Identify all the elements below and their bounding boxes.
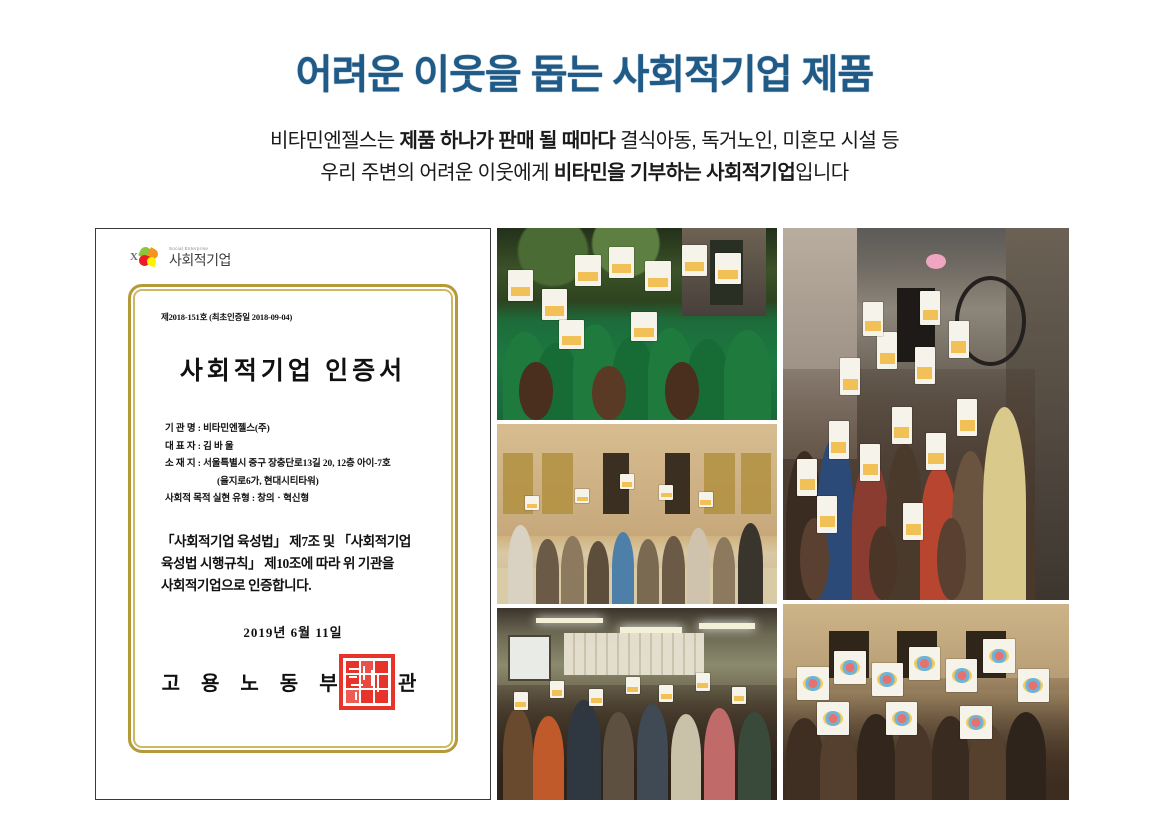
header: 어려운 이웃을 돕는 사회적기업 제품 비타민엔젤스는 제품 하나가 판매 될 …	[0, 0, 1169, 189]
photo-children-holding-heart-design-boxes	[783, 604, 1069, 800]
page-title: 어려운 이웃을 돕는 사회적기업 제품	[0, 52, 1169, 98]
subtitle: 비타민엔젤스는 제품 하나가 판매 될 때마다 결식아동, 독거노인, 미혼모 …	[0, 126, 1169, 189]
field-social-purpose-type: 사회적 목적 실현 유형 : 창의ㆍ혁신형	[165, 491, 433, 509]
logo-prefix: X	[130, 251, 138, 263]
official-seal-icon	[339, 654, 395, 710]
certificate-body-line3: 사회적기업으로 인증합니다.	[161, 575, 425, 597]
butterfly-logo-icon: X	[130, 246, 164, 268]
photo-gallery	[497, 228, 1069, 800]
logo-korean-label: 사회적기업	[169, 253, 231, 267]
photo-column-left	[497, 228, 777, 800]
poster-page: 어려운 이웃을 돕는 사회적기업 제품 비타민엔젤스는 제품 하나가 판매 될 …	[0, 0, 1169, 827]
field-organization-name: 기 관 명 : 비타민엔젤스(주)	[165, 421, 433, 439]
certificate-body-line1: 「사회적기업 육성법」 제7조 및 「사회적기업	[161, 531, 425, 553]
certificate-fields: 기 관 명 : 비타민엔젤스(주) 대 표 자 : 김 바 울 소 재 지 : …	[165, 421, 433, 509]
social-enterprise-certificate: X Social Enterprise 사회적기업 제2018-151호 (최초…	[95, 228, 491, 800]
certificate-date: 2019년 6월 11일	[153, 622, 433, 641]
certificate-body: 「사회적기업 육성법」 제7조 및 「사회적기업 육성법 시행규칙」 제10조에…	[153, 531, 433, 598]
subtitle-line2-part3: 입니다	[795, 162, 848, 184]
content-row: X Social Enterprise 사회적기업 제2018-151호 (최초…	[0, 228, 1169, 803]
subtitle-line2-part1: 우리 주변의 어려운 이웃에게	[320, 162, 553, 184]
certificate-signature: 고 용 노 동 부 장 관	[153, 667, 433, 696]
field-address-detail: (을지로6가, 현대시티타워)	[165, 474, 433, 492]
social-enterprise-logo: X Social Enterprise 사회적기업	[130, 246, 231, 268]
subtitle-line1-part1: 비타민엔젤스는	[270, 130, 400, 152]
photo-children-indoor-hall-holding-sachets	[497, 608, 777, 800]
certificate-body-line2: 육성법 시행규칙」 제10조에 따라 위 기관을	[161, 553, 425, 575]
subtitle-line2-bold: 비타민을 기부하는 사회적기업	[554, 162, 795, 184]
photo-group-in-front-of-tan-building	[497, 424, 777, 604]
certificate-title: 사회적기업 인증서	[153, 351, 433, 387]
field-representative: 대 표 자 : 김 바 울	[165, 439, 433, 457]
subtitle-line1-bold: 제품 하나가 판매 될 때마다	[400, 130, 616, 152]
photo-column-right	[783, 228, 1069, 800]
subtitle-line1-part3: 결식아동, 독거노인, 미혼모 시설 등	[615, 130, 899, 152]
field-address: 소 재 지 : 서울특별시 중구 장충단로13길 20, 12층 아이-7호	[165, 456, 433, 474]
photo-children-in-alley-holding-boxes	[783, 228, 1069, 600]
certificate-number: 제2018-151호 (최초인증일 2018-09-04)	[161, 311, 433, 323]
photo-children-green-uniforms-holding-boxes	[497, 228, 777, 420]
certificate-gold-frame: 제2018-151호 (최초인증일 2018-09-04) 사회적기업 인증서 …	[128, 284, 458, 753]
